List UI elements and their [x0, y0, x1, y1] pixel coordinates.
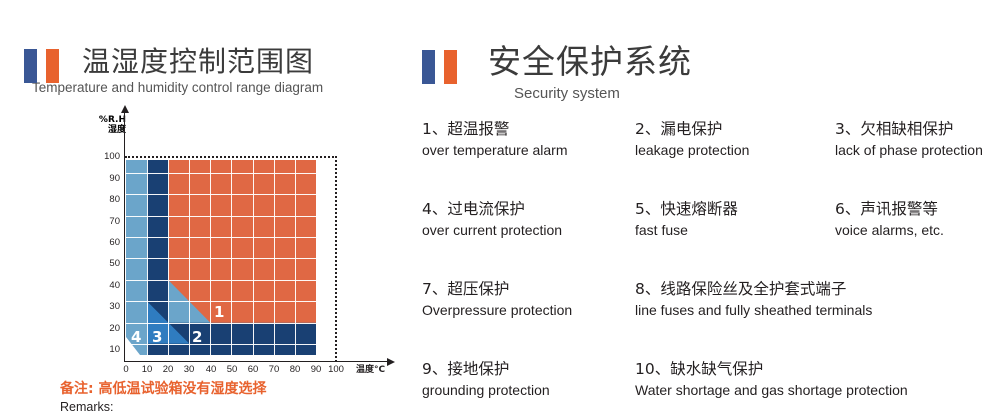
x-tick-20: 20 — [157, 364, 179, 375]
security-item-5-cn: 5、快速熔断器 — [635, 198, 835, 220]
x-axis-line — [124, 361, 388, 362]
gridline-h-90 — [126, 173, 316, 174]
region-label-1: 1 — [214, 305, 224, 320]
security-item-10-cn: 10、缺水缺气保护 — [635, 358, 908, 380]
slide-root: 温湿度控制范围图 Temperature and humidity contro… — [0, 0, 1000, 412]
remark-cn: 备注: 高低温试验箱没有湿度选择 — [60, 378, 266, 398]
remark-block: 备注: 高低温试验箱没有湿度选择 Remarks: — [60, 378, 266, 412]
x-tick-50: 50 — [221, 364, 243, 375]
x-tick-70: 70 — [263, 364, 285, 375]
security-item-10: 10、缺水缺气保护 Water shortage and gas shortag… — [635, 358, 908, 400]
x-tick-100: 100 — [325, 364, 347, 375]
security-feature-list: 1、超温报警 over temperature alarm 2、漏电保护 lea… — [422, 118, 1000, 400]
security-row-3: 7、超压保护 Overpressure protection 8、线路保险丝及全… — [422, 278, 1000, 320]
y-axis-title-line2: 湿度 — [82, 126, 126, 136]
right-title-en: Security system — [514, 86, 692, 102]
region-1-orange — [168, 160, 316, 323]
gridline-h-40 — [126, 280, 316, 281]
row-spacer-3 — [422, 320, 1000, 358]
left-marker-bars — [24, 49, 70, 83]
security-item-6-en: voice alarms, etc. — [835, 220, 944, 240]
x-tick-30: 30 — [178, 364, 200, 375]
security-item-8-en: line fuses and fully sheathed terminals — [635, 300, 872, 320]
y-tick-80: 80 — [88, 194, 120, 205]
region-label-4: 4 — [131, 330, 141, 345]
left-title-cn: 温湿度控制范围图 — [82, 46, 323, 78]
remark-en: Remarks: — [60, 400, 266, 412]
security-item-2-en: leakage protection — [635, 140, 835, 160]
gridline-h-30 — [126, 301, 316, 302]
dotted-limit-top — [125, 156, 337, 158]
security-item-1-en: over temperature alarm — [422, 140, 635, 160]
security-item-3: 3、欠相缺相保护 lack of phase protection — [835, 118, 983, 160]
y-tick-20: 20 — [88, 323, 120, 334]
security-item-9-en: grounding protection — [422, 380, 635, 400]
gridline-h-20 — [126, 323, 316, 324]
security-item-7-cn: 7、超压保护 — [422, 278, 635, 300]
security-item-5: 5、快速熔断器 fast fuse — [635, 198, 835, 240]
marker-bar-orange — [444, 50, 457, 84]
security-item-2-cn: 2、漏电保护 — [635, 118, 835, 140]
left-title-en: Temperature and humidity control range d… — [32, 80, 323, 96]
security-item-4-en: over current protection — [422, 220, 635, 240]
x-axis-arrow — [387, 358, 395, 366]
security-item-1-cn: 1、超温报警 — [422, 118, 635, 140]
y-tick-90: 90 — [88, 173, 120, 184]
x-tick-10: 10 — [136, 364, 158, 375]
security-row-2: 4、过电流保护 over current protection 5、快速熔断器 … — [422, 198, 1000, 240]
right-marker-bars — [422, 50, 468, 84]
y-tick-50: 50 — [88, 258, 120, 269]
security-item-4: 4、过电流保护 over current protection — [422, 198, 635, 240]
gridline-h-60 — [126, 237, 316, 238]
y-tick-60: 60 — [88, 237, 120, 248]
humidity-temperature-chart: %R.H 湿度 — [84, 112, 384, 362]
security-item-8: 8、线路保险丝及全护套式端子 line fuses and fully shea… — [635, 278, 872, 320]
y-axis-line — [124, 112, 125, 362]
y-tick-100: 100 — [88, 151, 120, 162]
security-item-6-cn: 6、声讯报警等 — [835, 198, 944, 220]
right-section-header: 安全保护系统 Security system — [422, 42, 692, 102]
security-item-3-cn: 3、欠相缺相保护 — [835, 118, 983, 140]
security-item-9-cn: 9、接地保护 — [422, 358, 635, 380]
y-tick-70: 70 — [88, 216, 120, 227]
security-item-9: 9、接地保护 grounding protection — [422, 358, 635, 400]
marker-bar-orange — [46, 49, 59, 83]
y-axis-title: %R.H 湿度 — [82, 116, 126, 135]
row-spacer-2 — [422, 240, 1000, 278]
security-item-5-en: fast fuse — [635, 220, 835, 240]
x-tick-40: 40 — [200, 364, 222, 375]
security-item-1: 1、超温报警 over temperature alarm — [422, 118, 635, 160]
y-axis-arrow — [121, 105, 129, 113]
marker-bar-navy — [24, 49, 37, 83]
y-tick-30: 30 — [88, 301, 120, 312]
security-row-1: 1、超温报警 over temperature alarm 2、漏电保护 lea… — [422, 118, 1000, 160]
marker-bar-navy — [422, 50, 435, 84]
chart-plot-area: 1 2 3 4 — [126, 160, 316, 355]
region-label-2: 2 — [192, 330, 202, 345]
dotted-limit-right — [335, 156, 337, 362]
x-tick-80: 80 — [284, 364, 306, 375]
security-item-10-en: Water shortage and gas shortage protecti… — [635, 380, 908, 400]
x-tick-0: 0 — [115, 364, 137, 375]
y-tick-10: 10 — [88, 344, 120, 355]
x-tick-90: 90 — [305, 364, 327, 375]
x-tick-60: 60 — [242, 364, 264, 375]
security-item-3-en: lack of phase protection — [835, 140, 983, 160]
right-title-cn: 安全保护系统 — [488, 42, 692, 82]
region-label-3: 3 — [152, 330, 162, 345]
left-section-header: 温湿度控制范围图 Temperature and humidity contro… — [24, 46, 323, 96]
security-item-7-en: Overpressure protection — [422, 300, 635, 320]
security-item-7: 7、超压保护 Overpressure protection — [422, 278, 635, 320]
security-item-2: 2、漏电保护 leakage protection — [635, 118, 835, 160]
security-item-8-cn: 8、线路保险丝及全护套式端子 — [635, 278, 872, 300]
y-tick-40: 40 — [88, 280, 120, 291]
row-spacer-1 — [422, 160, 1000, 198]
gridline-h-50 — [126, 258, 316, 259]
security-item-6: 6、声讯报警等 voice alarms, etc. — [835, 198, 944, 240]
x-axis-title: 温度°C — [356, 362, 385, 375]
security-item-4-cn: 4、过电流保护 — [422, 198, 635, 220]
security-row-4: 9、接地保护 grounding protection 10、缺水缺气保护 Wa… — [422, 358, 1000, 400]
gridline-h-80 — [126, 194, 316, 195]
gridline-h-70 — [126, 216, 316, 217]
